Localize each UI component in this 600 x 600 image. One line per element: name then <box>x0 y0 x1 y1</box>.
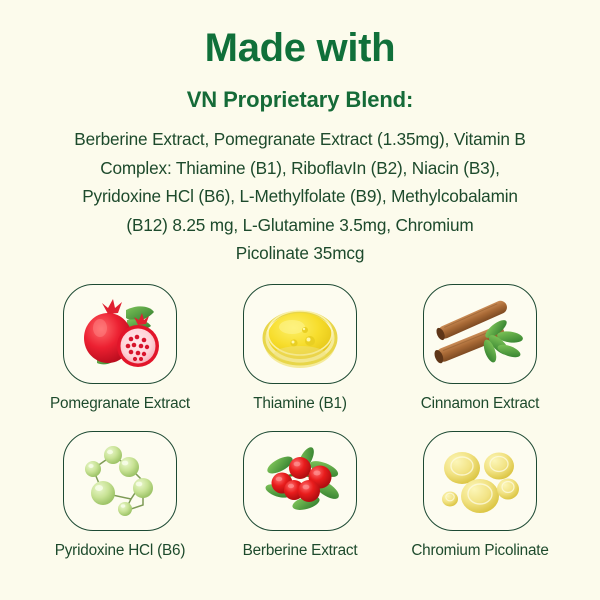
pomegranate-icon <box>74 294 166 374</box>
ingredient-cell-chromium[interactable]: Chromium Picolinate <box>390 431 570 560</box>
ingredient-card-grid: Pomegranate Extract <box>30 284 570 560</box>
ingredient-cell-pyridoxine[interactable]: Pyridoxine HCl (B6) <box>30 431 210 560</box>
ingredient-row: Pyridoxine HCl (B6) <box>30 431 570 560</box>
product-ingredients-panel: Made with VN Proprietary Blend: Berberin… <box>0 0 600 600</box>
ingredients-paragraph: Berberine Extract, Pomegranate Extract (… <box>24 113 576 268</box>
ingredients-line: Pyridoxine HCl (B6), L-Methylfolate (B9)… <box>24 182 576 211</box>
ingredient-label: Chromium Picolinate <box>411 542 548 560</box>
ingredient-label: Pyridoxine HCl (B6) <box>55 542 186 560</box>
ingredient-cell-cinnamon[interactable]: Cinnamon Extract <box>390 284 570 413</box>
blend-subtitle: VN Proprietary Blend: <box>187 70 414 113</box>
ingredient-card[interactable] <box>423 431 537 531</box>
ingredient-label: Pomegranate Extract <box>50 395 190 413</box>
ingredients-line: (B12) 8.25 mg, L-Glutamine 3.5mg, Chromi… <box>24 211 576 240</box>
ingredient-card[interactable] <box>423 284 537 384</box>
ingredients-line: Picolinate 35mcg <box>24 239 576 268</box>
oil-bowl-icon <box>256 296 344 372</box>
droplets-icon <box>436 444 524 518</box>
ingredients-line: Berberine Extract, Pomegranate Extract (… <box>24 125 576 154</box>
ingredient-card[interactable] <box>243 284 357 384</box>
ingredient-label: Berberine Extract <box>243 542 358 560</box>
ingredient-cell-berberine[interactable]: Berberine Extract <box>210 431 390 560</box>
ingredient-row: Pomegranate Extract <box>30 284 570 413</box>
ingredient-label: Thiamine (B1) <box>253 395 346 413</box>
ingredient-card[interactable] <box>63 284 177 384</box>
ingredient-label: Cinnamon Extract <box>421 395 539 413</box>
ingredient-card[interactable] <box>243 431 357 531</box>
cinnamon-sticks-icon <box>434 295 526 373</box>
molecule-icon <box>77 443 163 519</box>
page-title: Made with <box>205 0 396 70</box>
ingredients-line: Complex: Thiamine (B1), RiboflavIn (B2),… <box>24 154 576 183</box>
ingredient-cell-thiamine[interactable]: Thiamine (B1) <box>210 284 390 413</box>
ingredient-card[interactable] <box>63 431 177 531</box>
ingredient-cell-pomegranate[interactable]: Pomegranate Extract <box>30 284 210 413</box>
berries-icon <box>254 443 346 519</box>
